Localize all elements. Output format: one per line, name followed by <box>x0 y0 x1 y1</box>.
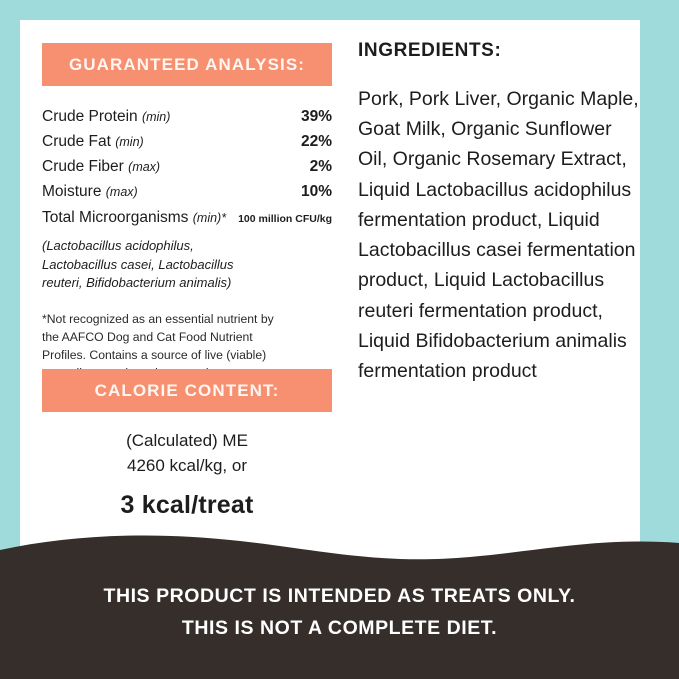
table-row: Crude Protein (min) 39% <box>42 104 332 129</box>
nutrient-cell: Moisture (max) <box>42 180 234 205</box>
culture-strain-list: (Lactobacillus acidophilus, Lactobacillu… <box>42 237 267 292</box>
nutrient-value: 39% <box>234 104 332 129</box>
disclaimer-line-2: THIS IS NOT A COMPLETE DIET. <box>0 613 679 645</box>
disclaimer-line-1: THIS PRODUCT IS INTENDED AS TREATS ONLY. <box>0 581 679 613</box>
guaranteed-analysis-table: Crude Protein (min) 39% Crude Fat (min) … <box>42 104 332 230</box>
nutrient-name: Crude Fiber <box>42 158 124 175</box>
nutrient-value: 100 million CFU/kg <box>234 205 332 230</box>
nutrient-cell: Crude Protein (min) <box>42 104 234 129</box>
table-row: Moisture (max) 10% <box>42 180 332 205</box>
nutrient-qualifier: (max) <box>106 185 138 199</box>
calorie-content-heading: CALORIE CONTENT: <box>42 369 332 412</box>
calorie-me-label: (Calculated) ME <box>42 428 332 453</box>
nutrient-value: 10% <box>234 180 332 205</box>
ingredients-list: Pork, Pork Liver, Organic Maple, Goat Mi… <box>358 84 643 386</box>
nutrient-name: Crude Protein <box>42 108 138 125</box>
nutrient-cell: Total Microorganisms (min)* <box>42 205 234 230</box>
guaranteed-analysis-section: GUARANTEED ANALYSIS: Crude Protein (min)… <box>42 43 332 383</box>
calorie-content-body: (Calculated) ME 4260 kcal/kg, or 3 kcal/… <box>42 428 332 520</box>
table-row: Crude Fiber (max) 2% <box>42 155 332 180</box>
table-row: Total Microorganisms (min)* 100 million … <box>42 205 332 230</box>
nutrient-qualifier: (min) <box>142 110 170 124</box>
calorie-content-section: CALORIE CONTENT: (Calculated) ME 4260 kc… <box>42 369 332 520</box>
nutrient-value: 22% <box>234 129 332 154</box>
product-label: GUARANTEED ANALYSIS: Crude Protein (min)… <box>0 0 679 679</box>
microorganism-count: 100 million CFU/kg <box>238 213 332 225</box>
nutrient-qualifier: (min) <box>115 135 143 149</box>
nutrient-qualifier: (min)* <box>193 211 226 225</box>
ingredients-section: INGREDIENTS: Pork, Pork Liver, Organic M… <box>358 40 643 386</box>
nutrient-value: 2% <box>234 155 332 180</box>
table-row: Crude Fat (min) 22% <box>42 129 332 154</box>
nutrient-name: Total Microorganisms <box>42 209 188 226</box>
ingredients-heading: INGREDIENTS: <box>358 40 643 62</box>
nutrient-qualifier: (max) <box>128 160 160 174</box>
guaranteed-analysis-heading: GUARANTEED ANALYSIS: <box>42 43 332 86</box>
nutrient-cell: Crude Fiber (max) <box>42 155 234 180</box>
disclaimer-banner: THIS PRODUCT IS INTENDED AS TREATS ONLY.… <box>0 519 679 679</box>
nutrient-name: Crude Fat <box>42 133 111 150</box>
nutrient-cell: Crude Fat (min) <box>42 129 234 154</box>
calorie-per-treat: 3 kcal/treat <box>42 491 332 520</box>
nutrient-name: Moisture <box>42 183 101 200</box>
calorie-per-kg: 4260 kcal/kg, or <box>42 453 332 478</box>
disclaimer-text: THIS PRODUCT IS INTENDED AS TREATS ONLY.… <box>0 581 679 644</box>
